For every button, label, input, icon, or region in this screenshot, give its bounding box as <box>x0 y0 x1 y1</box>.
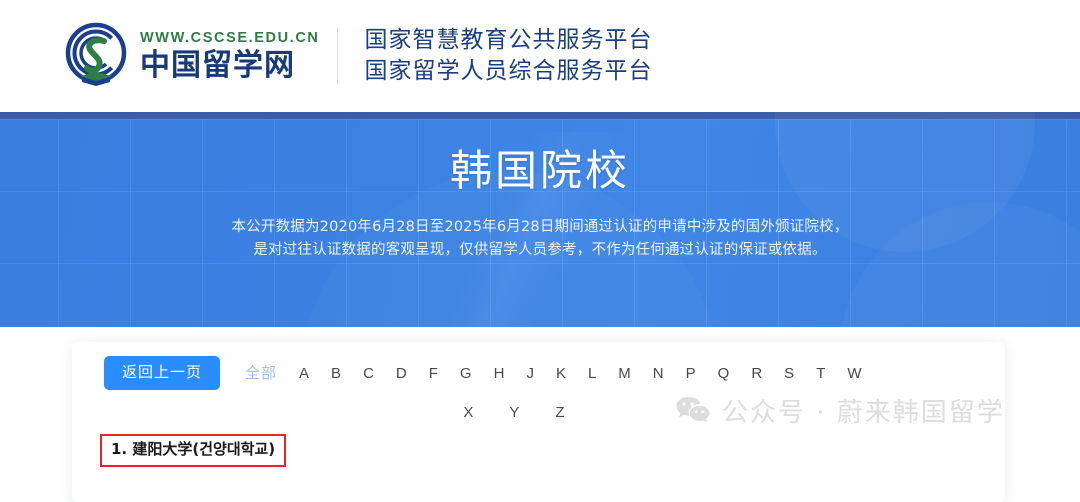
filter-row-secondary: X Y Z <box>104 399 984 426</box>
banner-content: 韩国院校 本公开数据为2020年6月28日至2025年6月28日期间通过认证的申… <box>0 112 1080 327</box>
filter-letter-T[interactable]: T <box>805 360 836 387</box>
school-result-list: 1. 建阳大学(건양대학교) <box>100 434 980 467</box>
filter-letter-F[interactable]: F <box>418 360 449 387</box>
filter-letter-L[interactable]: L <box>577 360 607 387</box>
filter-letter-J[interactable]: J <box>515 360 545 387</box>
content-card: 返回上一页 全部 A B C D F G H J K L M N P Q R S… <box>72 342 1005 502</box>
filter-letter-K[interactable]: K <box>545 360 577 387</box>
filter-letter-G[interactable]: G <box>449 360 483 387</box>
header-divider <box>337 28 338 84</box>
filter-letter-Y[interactable]: Y <box>491 399 537 426</box>
filter-letter-all[interactable]: 全部 <box>234 360 288 387</box>
header-title-line-2: 国家留学人员综合服务平台 <box>364 56 652 87</box>
filter-letter-A[interactable]: A <box>288 360 320 387</box>
filter-letter-D[interactable]: D <box>385 360 418 387</box>
page-title: 韩国院校 <box>450 148 630 194</box>
page-banner: 韩国院校 本公开数据为2020年6月28日至2025年6月28日期间通过认证的申… <box>0 112 1080 327</box>
filter-letter-R[interactable]: R <box>740 360 773 387</box>
cscse-logo-icon <box>62 22 134 90</box>
banner-description-line-2: 是对过往认证数据的客观呈现，仅供留学人员参考，不作为任何通过认证的保证或依据。 <box>231 239 848 262</box>
header-title-line-1: 国家智慧教育公共服务平台 <box>364 25 652 56</box>
filter-letter-N[interactable]: N <box>642 360 675 387</box>
logo-chinese-text: 中国留学网 <box>140 50 319 82</box>
logo-url-text: WWW.CSCSE.EDU.CN <box>140 31 319 46</box>
back-button[interactable]: 返回上一页 <box>104 356 220 390</box>
filter-letter-H[interactable]: H <box>483 360 516 387</box>
site-header: WWW.CSCSE.EDU.CN 中国留学网 国家智慧教育公共服务平台 国家留学… <box>0 0 1080 112</box>
banner-description-line-1: 本公开数据为2020年6月28日至2025年6月28日期间通过认证的申请中涉及的… <box>231 216 848 239</box>
logo-wordmark: WWW.CSCSE.EDU.CN 中国留学网 <box>140 23 319 89</box>
page-root: WWW.CSCSE.EDU.CN 中国留学网 国家智慧教育公共服务平台 国家留学… <box>0 0 1080 474</box>
filter-letter-P[interactable]: P <box>675 360 707 387</box>
alphabet-filter-bar: 返回上一页 全部 A B C D F G H J K L M N P Q R S… <box>104 356 984 426</box>
school-name: 1. 建阳大学(건양대학교) <box>111 440 275 458</box>
filter-letter-M[interactable]: M <box>607 360 642 387</box>
filter-letter-S[interactable]: S <box>773 360 805 387</box>
filter-letter-B[interactable]: B <box>320 360 352 387</box>
filter-letter-Z[interactable]: Z <box>537 399 582 426</box>
banner-description: 本公开数据为2020年6月28日至2025年6月28日期间通过认证的申请中涉及的… <box>231 216 848 262</box>
filter-row-primary: 返回上一页 全部 A B C D F G H J K L M N P Q R S… <box>104 356 984 390</box>
filter-letter-C[interactable]: C <box>352 360 385 387</box>
filter-letter-Q[interactable]: Q <box>707 360 741 387</box>
filter-letter-W[interactable]: W <box>836 360 872 387</box>
list-item[interactable]: 1. 建阳大学(건양대학교) <box>100 434 286 467</box>
header-brand[interactable]: WWW.CSCSE.EDU.CN 中国留学网 国家智慧教育公共服务平台 国家留学… <box>62 16 652 96</box>
filter-letter-X[interactable]: X <box>445 399 491 426</box>
header-platform-titles: 国家智慧教育公共服务平台 国家留学人员综合服务平台 <box>364 23 652 89</box>
